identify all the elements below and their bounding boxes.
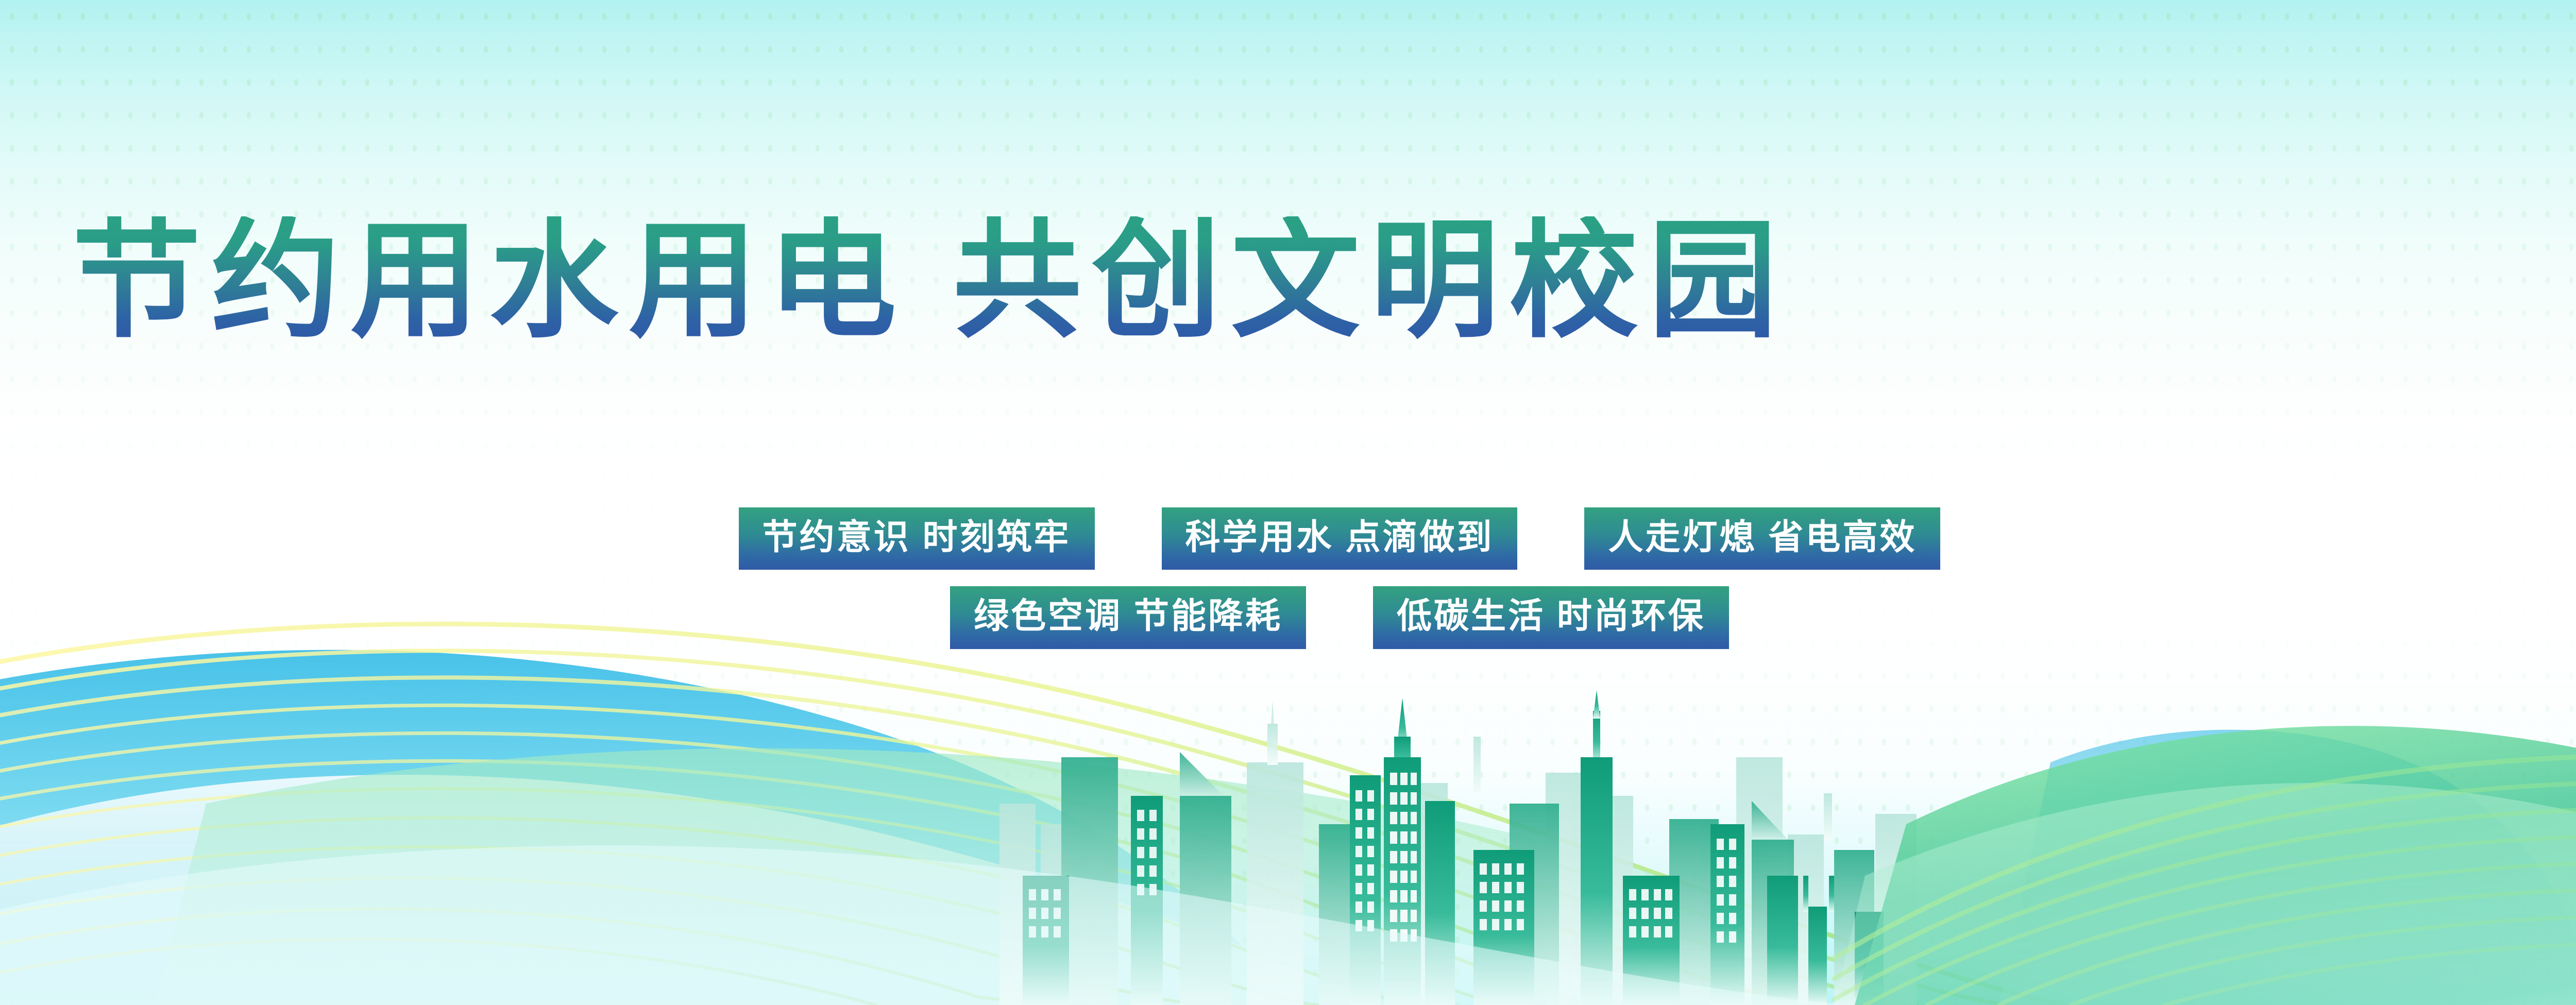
- slogan-tag-green-aircon[interactable]: 绿色空调 节能降耗: [950, 586, 1306, 649]
- slogan-tag-low-carbon[interactable]: 低碳生活 时尚环保: [1373, 586, 1729, 649]
- slogan-tag-saving-awareness[interactable]: 节约意识 时刻筑牢: [739, 507, 1095, 570]
- slogan-tag-row-1: 节约意识 时刻筑牢 科学用水 点滴做到 人走灯熄 省电高效: [0, 507, 2576, 570]
- slogan-tag-row-2: 绿色空调 节能降耗 低碳生活 时尚环保: [0, 586, 2576, 649]
- page-title: 节约用水用电 共创文明校园: [72, 216, 2576, 345]
- slogan-tag-group: 节约意识 时刻筑牢 科学用水 点滴做到 人走灯熄 省电高效 绿色空调 节能降耗 …: [0, 507, 2576, 666]
- eco-campaign-banner: 节约用水用电 共创文明校园 节约意识 时刻筑牢 科学用水 点滴做到 人走灯熄 省…: [0, 0, 2576, 1005]
- decorative-waves-layer: [0, 0, 2576, 1005]
- slogan-tag-lights-off[interactable]: 人走灯熄 省电高效: [1584, 507, 1940, 570]
- slogan-tag-scientific-water[interactable]: 科学用水 点滴做到: [1162, 507, 1518, 570]
